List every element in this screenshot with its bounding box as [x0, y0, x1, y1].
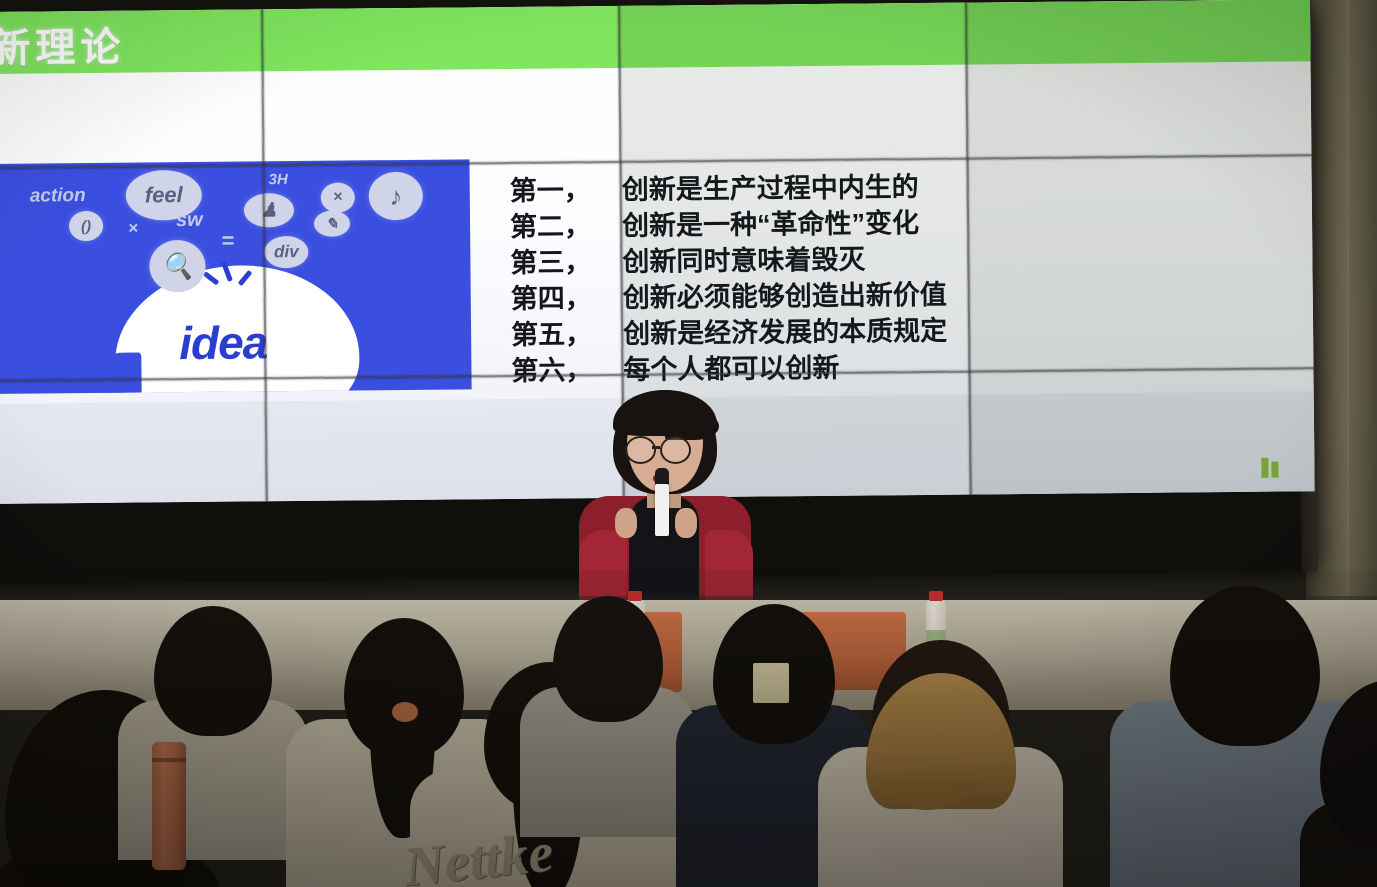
presenter-left-hand — [615, 508, 637, 538]
presenter-glasses-bridge — [652, 446, 660, 449]
audience-member-a2 — [118, 606, 308, 887]
idea-bubble-♪: ♪ — [369, 172, 423, 221]
slide-corner-logo-icon — [1261, 458, 1278, 478]
lecture-hall-scene: 新理论 idea actionfeel3H×♪()♟✎sw×=div🔍 第一，创… — [0, 0, 1377, 887]
presenter-right-hand — [675, 508, 697, 538]
floating-bubbles-layer: actionfeel3H×♪()♟✎sw×=div🔍 — [0, 159, 469, 164]
idea-bubble-×: × — [321, 182, 355, 212]
audience-member-a9 — [1300, 680, 1377, 887]
slide-bullet-text: 每个人都可以创新 — [623, 346, 839, 387]
audience-head — [154, 606, 272, 736]
idea-bubble-(): () — [69, 211, 103, 241]
idea-bubble-sw: sw — [176, 209, 203, 232]
microphone-body — [655, 484, 669, 536]
slide-bullet-index: 第六， — [511, 348, 623, 388]
slide-title: 新理论 — [0, 15, 126, 74]
slide-bullet-text: 创新同时意味着毁灭 — [622, 238, 865, 279]
slide-bullet-list: 第一，创新是生产过程中内生的第二，创新是一种“革命性”变化第三，创新同时意味着毁… — [510, 163, 1172, 385]
slide-title-band — [0, 0, 1311, 74]
idea-bubble-✎: ✎ — [314, 210, 350, 236]
presenter-glasses-left-lens — [625, 436, 656, 464]
idea-bubble-div: div — [264, 236, 308, 268]
slide-bullet-text: 创新是经济发展的本质规定 — [623, 309, 947, 351]
slide-bullet-index: 第二， — [510, 204, 622, 244]
audience-head — [553, 596, 663, 722]
presenter-speaker — [565, 388, 765, 588]
idea-bubble-3H: 3H — [269, 171, 288, 188]
wall-seam — [1347, 0, 1349, 620]
hair-clip-icon — [753, 663, 789, 703]
idea-bubble-🔍: 🔍 — [149, 240, 205, 293]
slide-bullet-text: 创新是一种“革命性”变化 — [622, 201, 919, 243]
idea-bubble-♟: ♟ — [244, 193, 294, 227]
idea-graphic-panel: idea actionfeel3H×♪()♟✎sw×=div🔍 — [0, 159, 472, 394]
idea-bubble-×: × — [128, 219, 138, 239]
idea-word-label: idea — [179, 315, 268, 370]
idea-bubble-=: = — [221, 228, 234, 254]
idea-bubble-action: action — [30, 185, 86, 208]
slide-bullet-index: 第一， — [510, 168, 622, 208]
orange-thermos — [152, 742, 186, 870]
slide-bullet-index: 第四， — [511, 276, 623, 316]
slide-bullet-row: 第六，每个人都可以创新 — [511, 343, 1171, 385]
audience-member-a7 — [818, 640, 1063, 887]
presenter-glasses-right-lens — [660, 436, 691, 464]
audience-head — [1170, 586, 1320, 746]
presenter-fringe — [613, 390, 717, 436]
slide-bullet-index: 第五， — [511, 312, 623, 352]
slide-bullet-index: 第三， — [510, 240, 622, 280]
